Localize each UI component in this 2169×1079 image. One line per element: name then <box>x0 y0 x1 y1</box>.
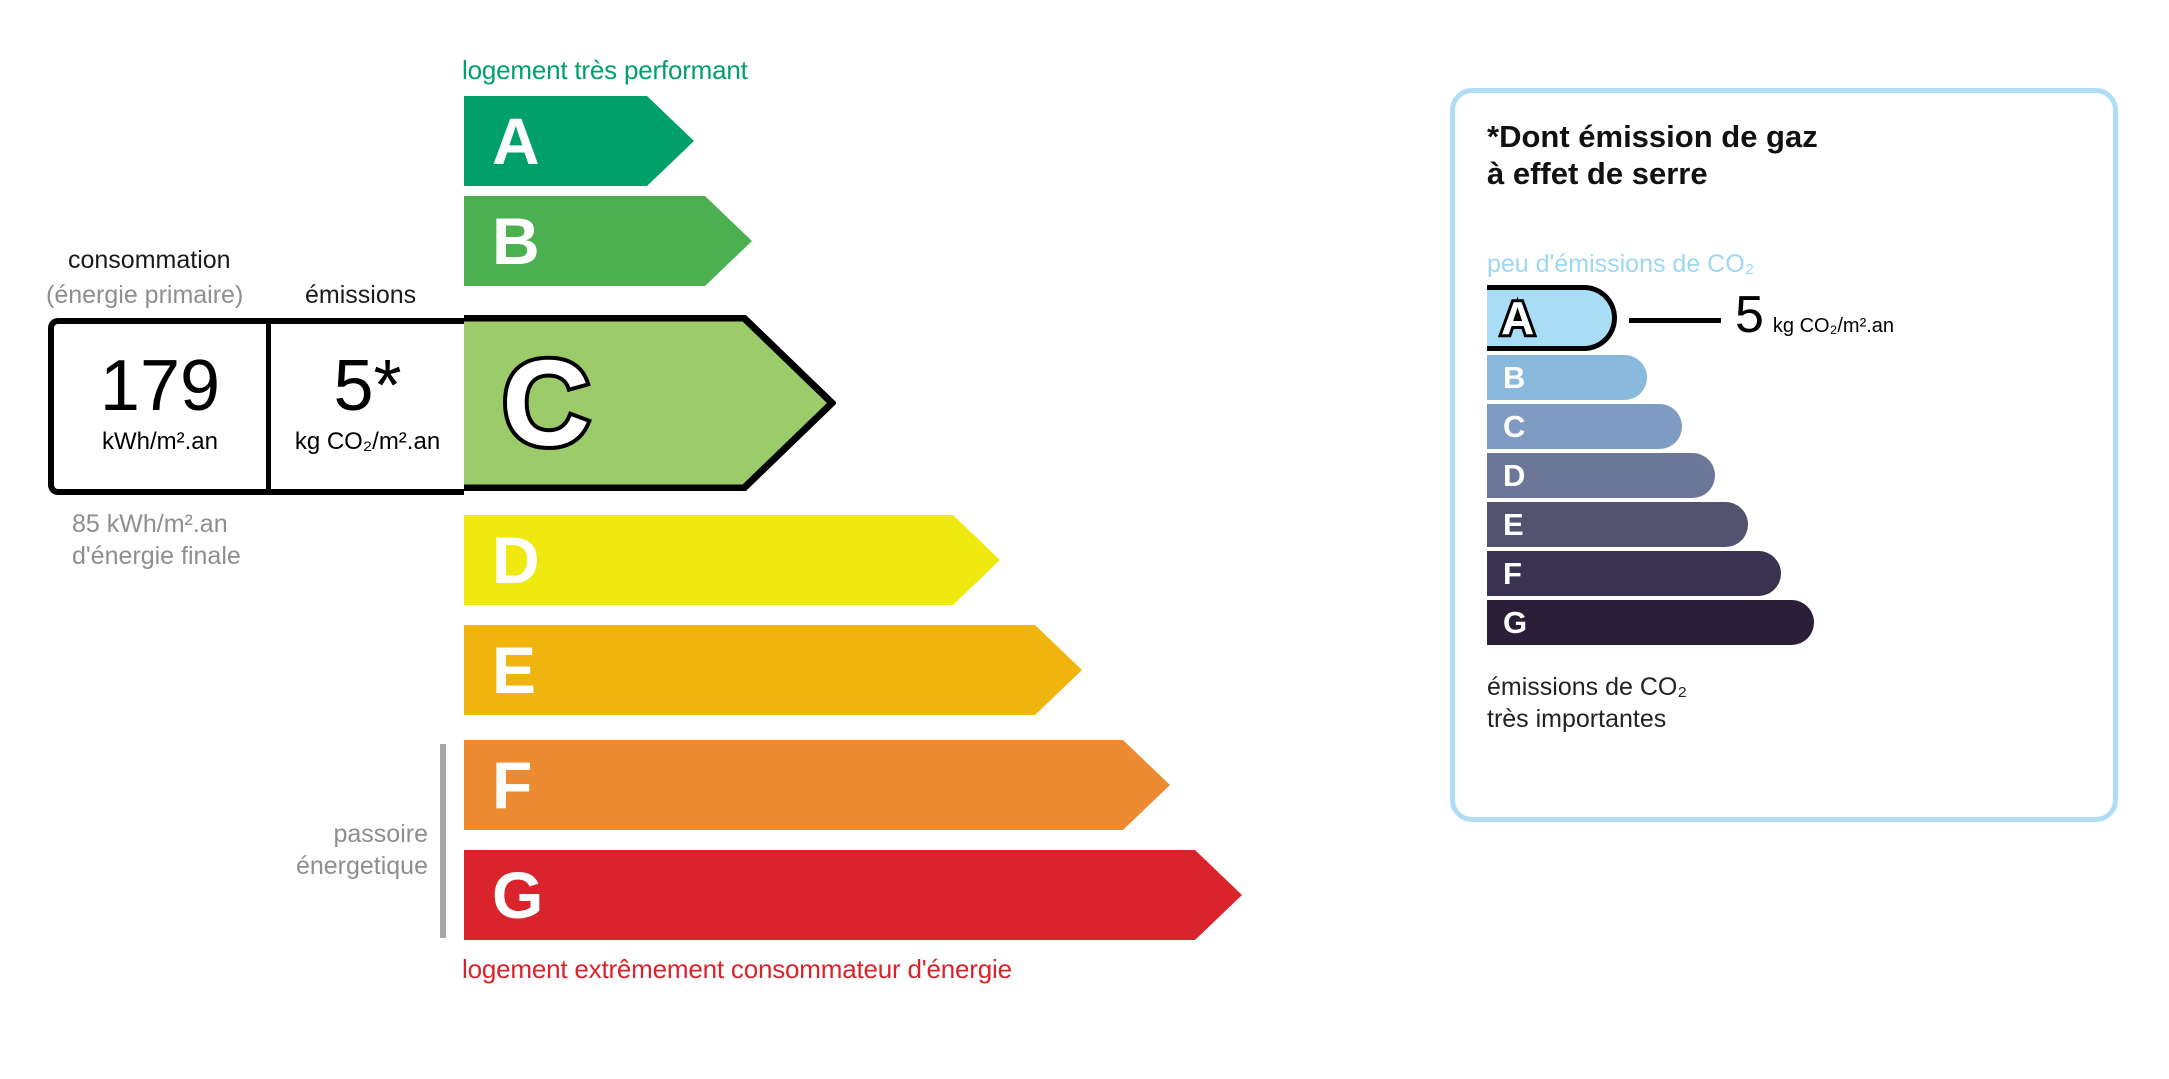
energy-band-d: D <box>464 515 1000 605</box>
co2-bar-b: B <box>1487 355 1647 400</box>
energy-band-shape-f <box>464 740 1170 830</box>
co2-bar-letter-e: E <box>1503 509 1524 540</box>
energy-band-letter-d: D <box>492 527 540 593</box>
emission-unit: kg CO₂/m².an <box>295 428 440 456</box>
co2-row-d: D <box>1487 453 2097 502</box>
energy-consumption-panel: logement très performant consommation (é… <box>0 0 1330 1079</box>
co2-bar-letter-a: A <box>1501 295 1534 341</box>
co2-legend-bottom: émissions de CO₂ très importantes <box>1487 671 1687 735</box>
energy-band-a: A <box>464 96 694 186</box>
energy-band-f: F <box>464 740 1170 830</box>
co2-measured-value: 5 <box>1735 289 1764 341</box>
energy-band-letter-a: A <box>492 108 540 174</box>
passoire-label: passoire énergetique <box>280 818 428 882</box>
emission-value-cell: 5* kg CO₂/m².an <box>266 324 464 489</box>
co2-row-a: A5kg CO₂/m².an <box>1487 285 2097 355</box>
consumption-header-sublabel: (énergie primaire) <box>46 281 243 310</box>
energy-band-c: C <box>464 315 836 491</box>
energy-band-g: G <box>464 850 1242 940</box>
energy-band-letter-c: C <box>502 342 590 464</box>
energy-band-letter-e: E <box>492 637 536 703</box>
co2-bar-g: G <box>1487 600 1814 645</box>
co2-legend-top: peu d'émissions de CO₂ <box>1487 250 1754 279</box>
co2-row-c: C <box>1487 404 2097 453</box>
co2-bar-letter-d: D <box>1503 460 1525 491</box>
co2-bar-letter-g: G <box>1503 607 1527 638</box>
co2-bar-letter-c: C <box>1503 411 1525 442</box>
energy-band-letter-g: G <box>492 862 543 928</box>
co2-bar-d: D <box>1487 453 1715 498</box>
co2-measured-value-group: 5kg CO₂/m².an <box>1735 289 1894 341</box>
energy-band-shape-e <box>464 625 1082 715</box>
consumption-value-cell: 179 kWh/m².an <box>54 324 266 489</box>
co2-row-g: G <box>1487 600 2097 649</box>
final-energy-note: 85 kWh/m².an d'énergie finale <box>72 508 241 572</box>
co2-class-bars: A5kg CO₂/m².anBCDEFG <box>1487 285 2097 649</box>
co2-bar-letter-b: B <box>1503 362 1525 393</box>
energy-band-e: E <box>464 625 1082 715</box>
co2-bar-c: C <box>1487 404 1682 449</box>
energy-band-shape-d <box>464 515 1000 605</box>
co2-measured-unit: kg CO₂/m².an <box>1773 315 1894 338</box>
energy-band-b: B <box>464 196 752 286</box>
emission-value: 5* <box>333 353 401 419</box>
consumption-unit: kWh/m².an <box>102 428 218 456</box>
co2-row-e: E <box>1487 502 2097 551</box>
co2-value-connector-line <box>1629 318 1721 323</box>
co2-emission-panel: *Dont émission de gaz à effet de serre p… <box>1450 88 2118 822</box>
co2-bar-letter-f: F <box>1503 558 1522 589</box>
measured-values-box: 179 kWh/m².an 5* kg CO₂/m².an <box>48 318 464 495</box>
co2-panel-title: *Dont émission de gaz à effet de serre <box>1487 119 1818 192</box>
dpe-energy-label: logement très performant consommation (é… <box>0 0 2169 1079</box>
energy-band-shape-g <box>464 850 1242 940</box>
scale-caption-bottom: logement extrêmement consommateur d'éner… <box>462 954 1012 985</box>
energy-class-bands: ABCDEFG <box>464 0 1324 1079</box>
co2-row-b: B <box>1487 355 2097 404</box>
energy-band-letter-f: F <box>492 752 532 818</box>
passoire-marker-line <box>440 744 446 938</box>
emissions-header-label: émissions <box>305 281 416 310</box>
co2-bar-e: E <box>1487 502 1748 547</box>
consumption-header-label: consommation <box>68 246 231 275</box>
co2-row-f: F <box>1487 551 2097 600</box>
energy-band-letter-b: B <box>492 208 540 274</box>
consumption-value: 179 <box>100 353 220 419</box>
co2-bar-a: A <box>1487 285 1617 351</box>
co2-bar-f: F <box>1487 551 1781 596</box>
